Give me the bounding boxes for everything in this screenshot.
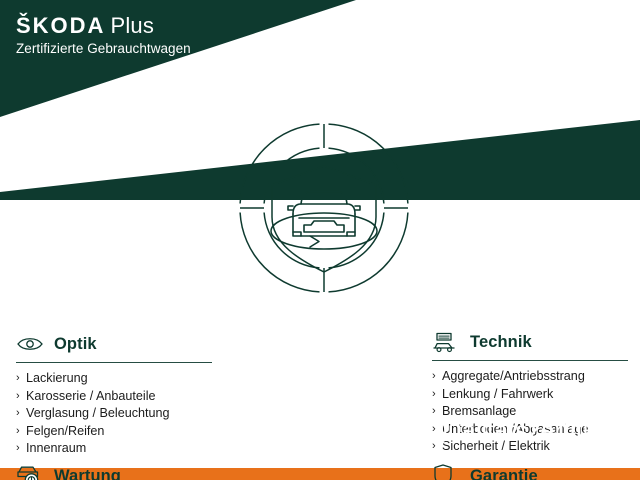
section-wartung: Wartung ›Wartung / Inspektion ›Hauptunte… [16, 462, 214, 480]
section-optik-list: ›Lackierung ›Karosserie / Anbauteile ›Ve… [16, 370, 214, 458]
list-item: ›Karosserie / Anbauteile [16, 388, 214, 406]
section-wartung-title: Wartung [54, 467, 121, 480]
section-optik-header: Optik [16, 330, 214, 358]
chevron-right-icon: › [16, 423, 20, 441]
list-item-label: Lackierung [26, 371, 88, 385]
brand-logo: ŠKODAPlus Zertifizierte Gebrauchtwagen [16, 14, 191, 57]
section-garantie: Garantie ›Garantienachweis ›Qualitätszer… [432, 462, 630, 480]
logo-skoda-text: ŠKODA [16, 13, 105, 38]
certificate-page: ŠKODAPlus Zertifizierte Gebrauchtwagen O… [0, 0, 640, 480]
chevron-right-icon: › [16, 405, 20, 423]
logo-tagline: Zertifizierte Gebrauchtwagen [16, 41, 191, 57]
list-item: ›Felgen/Reifen [16, 423, 214, 441]
section-optik: Optik ›Lackierung ›Karosserie / Anbautei… [16, 330, 214, 458]
section-optik-divider [16, 362, 212, 363]
list-item-label: Innenraum [26, 441, 86, 455]
section-garantie-header: Garantie [432, 462, 630, 480]
list-item-label: Verglasung / Beleuchtung [26, 406, 170, 420]
section-technik-header: Technik [432, 328, 630, 356]
list-item-label: Aggregate/Antriebsstrang [442, 369, 585, 383]
footer-title: Qualitätszertifikat [428, 416, 622, 446]
list-item: ›Verglasung / Beleuchtung [16, 405, 214, 423]
list-item-label: Felgen/Reifen [26, 424, 104, 438]
eye-icon [16, 331, 46, 357]
car-service-icon [16, 463, 46, 480]
logo-plus-text: Plus [110, 13, 154, 38]
section-optik-title: Optik [54, 335, 97, 354]
car-side-icon [432, 329, 462, 355]
chevron-right-icon: › [432, 368, 436, 386]
list-item: ›Lenkung / Fahrwerk [432, 386, 630, 404]
shield-icon [432, 463, 462, 480]
logo-wordmark: ŠKODAPlus [16, 14, 191, 38]
section-technik-title: Technik [470, 333, 532, 352]
section-garantie-title: Garantie [470, 467, 538, 480]
section-technik-divider [432, 360, 628, 361]
list-item: ›Innenraum [16, 440, 214, 458]
list-item-label: Lenkung / Fahrwerk [442, 387, 553, 401]
certified-vehicle-emblem [238, 122, 410, 294]
chevron-right-icon: › [432, 386, 436, 404]
list-item: ›Aggregate/Antriebsstrang [432, 368, 630, 386]
list-item-label: Karosserie / Anbauteile [26, 389, 156, 403]
chevron-right-icon: › [16, 440, 20, 458]
list-item: ›Lackierung [16, 370, 214, 388]
chevron-right-icon: › [16, 370, 20, 388]
section-wartung-header: Wartung [16, 462, 214, 480]
chevron-right-icon: › [16, 388, 20, 406]
